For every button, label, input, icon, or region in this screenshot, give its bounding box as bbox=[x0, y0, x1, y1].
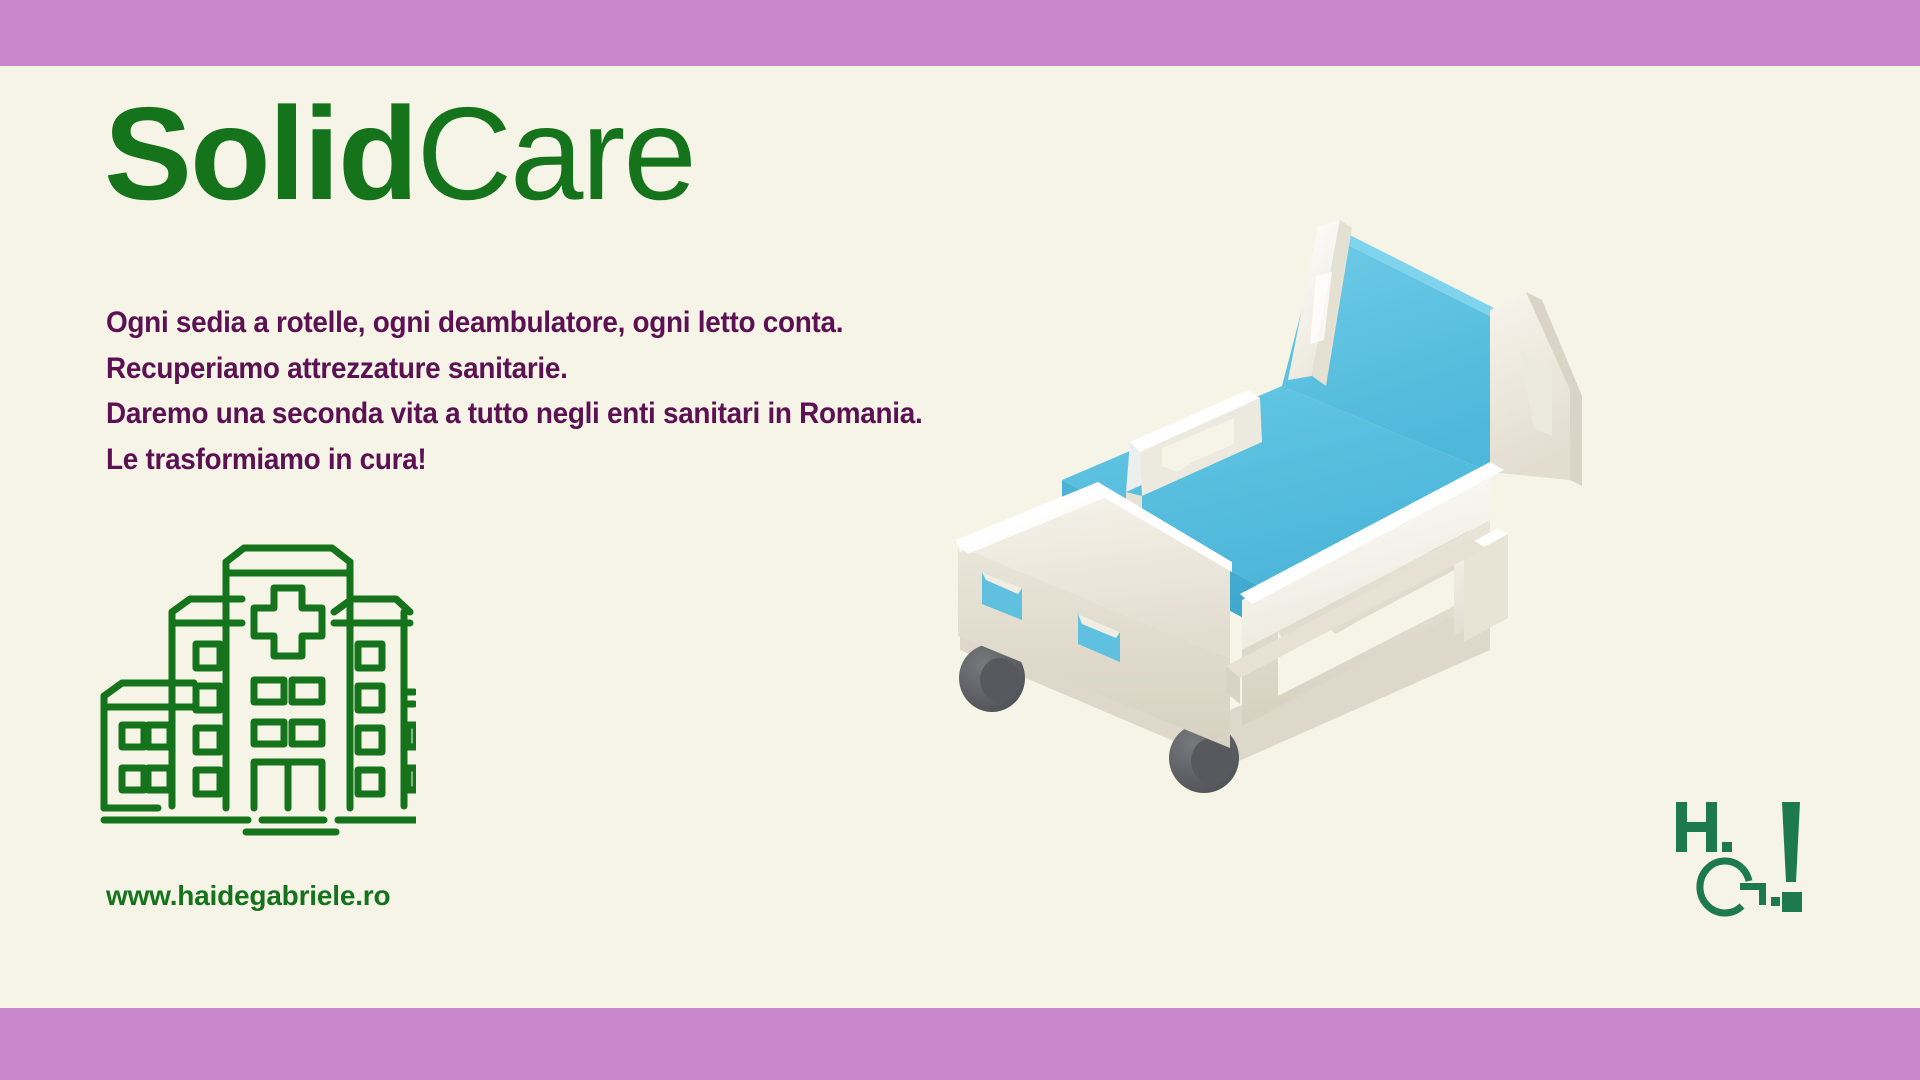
logo-letter-g bbox=[1700, 861, 1780, 913]
logo-letter-h bbox=[1676, 802, 1732, 852]
brand-logo bbox=[1672, 800, 1822, 925]
title-bold-part: Solid bbox=[104, 80, 417, 227]
title-light-part: Care bbox=[417, 80, 695, 227]
poster-canvas: SolidCare Ogni sedia a rotelle, ogni dea… bbox=[0, 0, 1920, 1080]
logo-exclamation-mark bbox=[1782, 802, 1802, 912]
website-url[interactable]: www.haidegabriele.ro bbox=[106, 880, 390, 912]
bottom-accent-band bbox=[0, 1008, 1920, 1080]
hospital-bed-illustration bbox=[930, 180, 1630, 800]
page-title: SolidCare bbox=[104, 88, 695, 220]
hospital-icon bbox=[96, 540, 416, 840]
top-accent-band bbox=[0, 0, 1920, 66]
